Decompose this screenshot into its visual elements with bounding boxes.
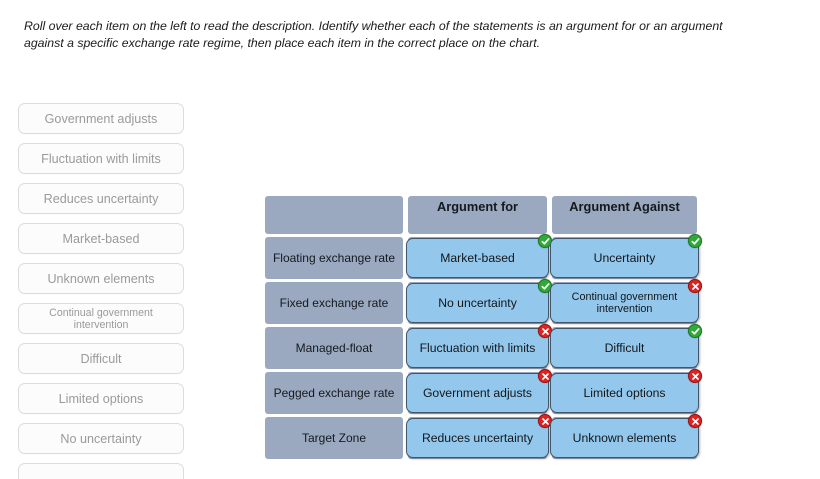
argument-against-tile[interactable]: Continual government intervention xyxy=(550,283,699,323)
argument-for-tile[interactable]: No uncertainty xyxy=(406,283,549,323)
argument-against-tile[interactable]: Uncertainty xyxy=(550,238,699,278)
matrix-row: Floating exchange rateMarket-basedUncert… xyxy=(265,237,697,279)
source-item[interactable]: No uncertainty xyxy=(18,423,184,454)
argument-for-cell[interactable]: No uncertainty xyxy=(408,282,547,324)
argument-for-tile-label: Government adjusts xyxy=(423,387,532,400)
argument-for-tile[interactable]: Fluctuation with limits xyxy=(406,328,549,368)
row-header-regime: Pegged exchange rate xyxy=(265,372,403,414)
row-header-regime-label: Target Zone xyxy=(265,417,403,459)
argument-against-tile-label: Continual government intervention xyxy=(559,291,690,315)
argument-against-tile-label: Uncertainty xyxy=(594,252,656,265)
matrix-corner-cell xyxy=(265,196,403,234)
source-item-label: Fluctuation with limits xyxy=(41,152,161,166)
source-item[interactable]: Continual government intervention xyxy=(18,303,184,334)
source-item[interactable]: Fluctuation with limits xyxy=(18,143,184,174)
argument-against-tile[interactable]: Difficult xyxy=(550,328,699,368)
column-header-argument-for-label: Argument for xyxy=(408,196,547,234)
source-item[interactable]: Unknown elements xyxy=(18,263,184,294)
source-item[interactable]: Difficult xyxy=(18,343,184,374)
matrix-header-row: Argument forArgument Against xyxy=(265,196,697,234)
row-header-regime: Managed-float xyxy=(265,327,403,369)
incorrect-cross-icon xyxy=(688,369,702,383)
argument-against-tile[interactable]: Limited options xyxy=(550,373,699,413)
argument-for-tile-label: Reduces uncertainty xyxy=(422,432,533,445)
source-item-label: Continual government intervention xyxy=(25,307,177,331)
argument-against-tile-label: Unknown elements xyxy=(573,432,677,445)
correct-check-icon xyxy=(688,324,702,338)
correct-check-icon xyxy=(688,234,702,248)
row-header-regime-label: Pegged exchange rate xyxy=(265,372,403,414)
argument-against-cell[interactable]: Difficult xyxy=(552,327,697,369)
argument-against-cell[interactable]: Limited options xyxy=(552,372,697,414)
argument-for-tile-label: Market-based xyxy=(440,252,515,265)
argument-against-cell[interactable]: Uncertainty xyxy=(552,237,697,279)
argument-against-tile[interactable]: Unknown elements xyxy=(550,418,699,458)
source-item[interactable]: Limited options xyxy=(18,383,184,414)
argument-for-cell[interactable]: Government adjusts xyxy=(408,372,547,414)
row-header-regime-label: Floating exchange rate xyxy=(265,237,403,279)
argument-for-cell[interactable]: Market-based xyxy=(408,237,547,279)
argument-for-cell[interactable]: Fluctuation with limits xyxy=(408,327,547,369)
matrix-row: Pegged exchange rateGovernment adjustsLi… xyxy=(265,372,697,414)
row-header-regime-label: Managed-float xyxy=(265,327,403,369)
matrix-row: Fixed exchange rateNo uncertaintyContinu… xyxy=(265,282,697,324)
source-item-label: Unknown elements xyxy=(47,272,154,286)
source-item-label: Government adjusts xyxy=(45,112,158,126)
argument-for-tile-label: Fluctuation with limits xyxy=(420,342,536,355)
source-item-label: Market-based xyxy=(63,232,140,246)
matrix-row: Managed-floatFluctuation with limitsDiff… xyxy=(265,327,697,369)
source-item-label: Difficult xyxy=(80,352,121,366)
argument-for-tile-label: No uncertainty xyxy=(438,297,517,310)
source-item-label: Limited options xyxy=(59,392,144,406)
source-item[interactable]: Market-based xyxy=(18,223,184,254)
row-header-regime: Fixed exchange rate xyxy=(265,282,403,324)
column-header-argument-against-label: Argument Against xyxy=(552,196,697,234)
source-item[interactable]: Reduces uncertainty xyxy=(18,183,184,214)
incorrect-cross-icon xyxy=(688,414,702,428)
matrix-row: Target ZoneReduces uncertaintyUnknown el… xyxy=(265,417,697,459)
source-item[interactable] xyxy=(18,463,184,479)
incorrect-cross-icon xyxy=(688,279,702,293)
row-header-regime: Target Zone xyxy=(265,417,403,459)
matrix-corner-label xyxy=(265,196,403,234)
row-header-regime: Floating exchange rate xyxy=(265,237,403,279)
source-item-label: Reduces uncertainty xyxy=(44,192,159,206)
argument-against-cell[interactable]: Unknown elements xyxy=(552,417,697,459)
argument-against-cell[interactable]: Continual government intervention xyxy=(552,282,697,324)
argument-for-tile[interactable]: Government adjusts xyxy=(406,373,549,413)
source-item[interactable]: Government adjusts xyxy=(18,103,184,134)
source-item-label: No uncertainty xyxy=(60,432,141,446)
column-header-argument-for: Argument for xyxy=(408,196,547,234)
argument-for-tile[interactable]: Market-based xyxy=(406,238,549,278)
argument-matrix: Argument forArgument AgainstFloating exc… xyxy=(265,196,697,462)
argument-for-cell[interactable]: Reduces uncertainty xyxy=(408,417,547,459)
argument-against-tile-label: Limited options xyxy=(584,387,666,400)
column-header-argument-against: Argument Against xyxy=(552,196,697,234)
instructions-text: Roll over each item on the left to read … xyxy=(24,18,740,52)
draggable-items-list: Government adjustsFluctuation with limit… xyxy=(18,103,184,479)
row-header-regime-label: Fixed exchange rate xyxy=(265,282,403,324)
argument-against-tile-label: Difficult xyxy=(605,342,645,355)
argument-for-tile[interactable]: Reduces uncertainty xyxy=(406,418,549,458)
